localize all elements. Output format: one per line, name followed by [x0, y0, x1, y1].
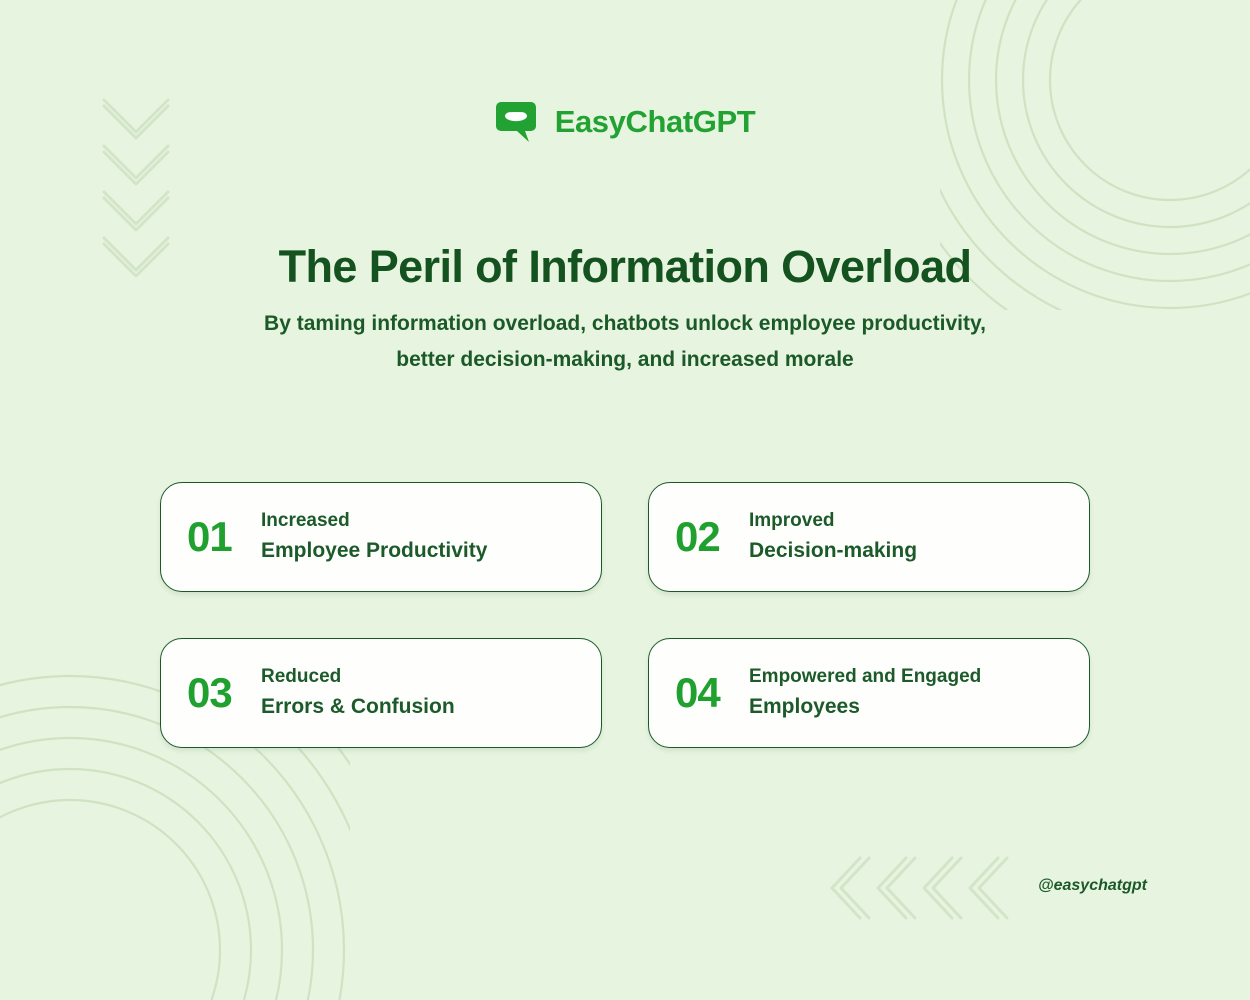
card-label-line-2: Decision-making: [749, 535, 917, 568]
benefit-card-grid: 01 Increased Employee Productivity 02 Im…: [160, 482, 1090, 748]
card-label-line-2: Errors & Confusion: [261, 691, 455, 724]
card-label-line-2: Employees: [749, 691, 981, 724]
speech-bubble-icon: [495, 98, 541, 144]
social-handle[interactable]: @easychatgpt: [1038, 877, 1147, 895]
card-label: Improved Decision-making: [749, 506, 917, 568]
card-number: 01: [187, 516, 261, 558]
card-label-line-1: Increased: [261, 506, 487, 535]
page-title: The Peril of Information Overload: [0, 242, 1250, 292]
card-label: Increased Employee Productivity: [261, 506, 487, 568]
benefit-card-04[interactable]: 04 Empowered and Engaged Employees: [648, 638, 1090, 748]
chevron-left-icons: [826, 852, 1026, 924]
page-subtitle: By taming information overload, chatbots…: [125, 306, 1125, 378]
benefit-card-02[interactable]: 02 Improved Decision-making: [648, 482, 1090, 592]
card-number: 02: [675, 516, 749, 558]
subtitle-line-2: better decision-making, and increased mo…: [125, 342, 1125, 378]
card-number: 04: [675, 672, 749, 714]
card-number: 03: [187, 672, 261, 714]
benefit-card-01[interactable]: 01 Increased Employee Productivity: [160, 482, 602, 592]
card-label-line-1: Empowered and Engaged: [749, 662, 981, 691]
card-label-line-1: Reduced: [261, 662, 455, 691]
poster-canvas: EasyChatGPT The Peril of Information Ove…: [0, 0, 1250, 1000]
card-label: Reduced Errors & Confusion: [261, 662, 455, 724]
brand-name: EasyChatGPT: [555, 106, 756, 137]
card-label-line-2: Employee Productivity: [261, 535, 487, 568]
card-label: Empowered and Engaged Employees: [749, 662, 981, 724]
benefit-card-03[interactable]: 03 Reduced Errors & Confusion: [160, 638, 602, 748]
card-label-line-1: Improved: [749, 506, 917, 535]
subtitle-line-1: By taming information overload, chatbots…: [125, 306, 1125, 342]
brand-lockup[interactable]: EasyChatGPT: [0, 98, 1250, 144]
